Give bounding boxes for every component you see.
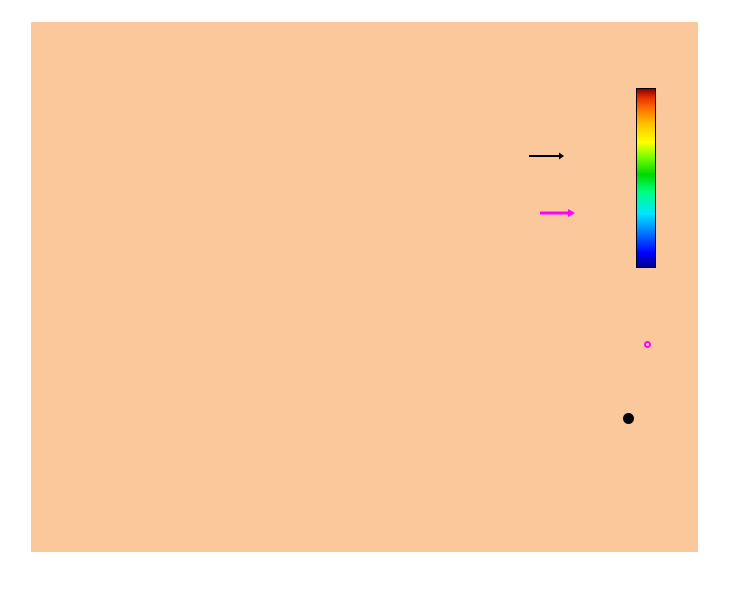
hf-radar-reference-arrow-icon [539, 208, 575, 220]
argo-marker-icon [644, 341, 651, 348]
dongara-marker-icon [623, 413, 634, 424]
model-reference-arrow-icon [528, 152, 564, 164]
colorbar [636, 88, 656, 268]
colorbar-gradient [636, 88, 656, 268]
vector-overlay [31, 22, 698, 552]
map-plot-area [31, 22, 698, 552]
